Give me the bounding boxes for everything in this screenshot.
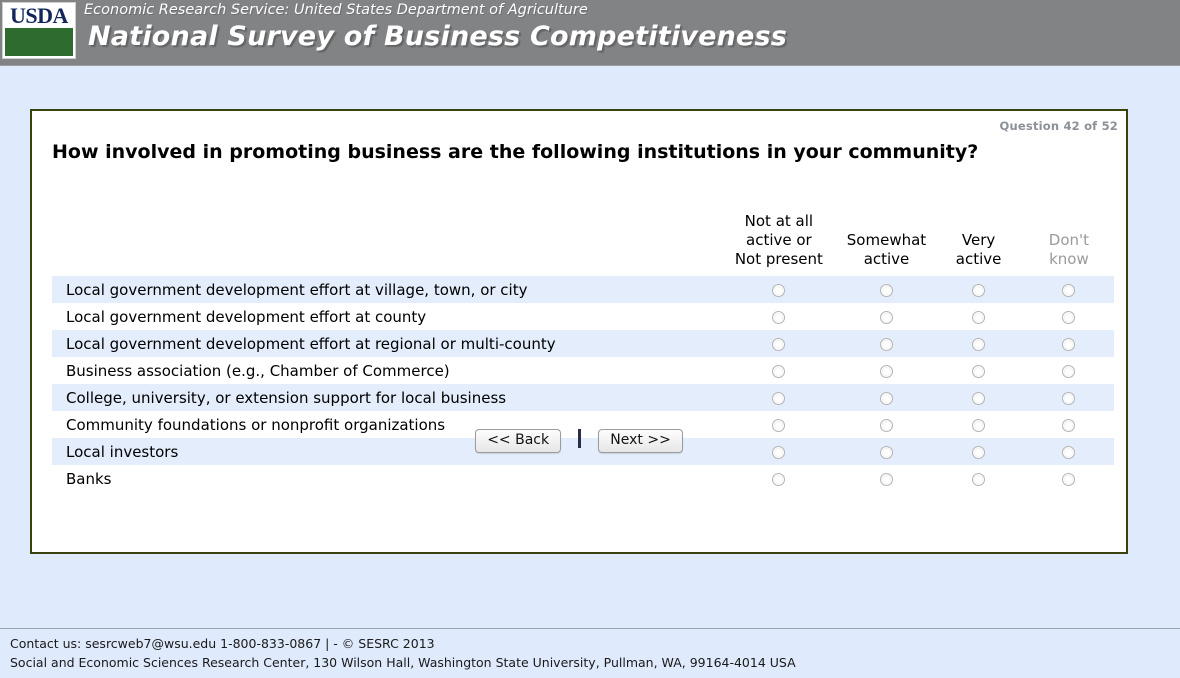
table-row: Local government development effort at c… — [52, 303, 1114, 330]
header-line-1: Don't — [1049, 231, 1089, 249]
nav-separator — [578, 429, 581, 448]
radio-cell-somewhat-active[interactable] — [840, 330, 934, 357]
table-row: Local government development effort at v… — [52, 276, 1114, 303]
radio-cell-dont-know[interactable] — [1024, 330, 1114, 357]
radio-cell-somewhat-active[interactable] — [840, 357, 934, 384]
page-body: Question 42 of 52 How involved in promot… — [0, 66, 1180, 628]
radio-cell-very-active[interactable] — [933, 384, 1024, 411]
radio-button[interactable] — [1062, 392, 1075, 405]
radio-cell-very-active[interactable] — [933, 357, 1024, 384]
matrix-header-not-at-all-active: Not at all active or Not present — [718, 212, 840, 276]
radio-cell-not-at-all-active[interactable] — [718, 357, 840, 384]
radio-button[interactable] — [880, 365, 893, 378]
radio-button[interactable] — [972, 473, 985, 486]
usda-logo-wordmark: USDA — [3, 4, 75, 28]
radio-button[interactable] — [1062, 338, 1075, 351]
radio-cell-not-at-all-active[interactable] — [718, 384, 840, 411]
radio-button[interactable] — [972, 392, 985, 405]
site-header: USDA Economic Research Service: United S… — [0, 0, 1180, 66]
radio-cell-very-active[interactable] — [933, 303, 1024, 330]
row-label: Local government development effort at r… — [52, 330, 718, 357]
page-title: National Survey of Business Competitiven… — [88, 21, 787, 52]
header-line-1: Very — [962, 231, 995, 249]
radio-button[interactable] — [1062, 365, 1075, 378]
radio-button[interactable] — [772, 392, 785, 405]
row-label: Banks — [52, 465, 718, 492]
radio-button[interactable] — [880, 338, 893, 351]
radio-button[interactable] — [880, 473, 893, 486]
radio-cell-dont-know[interactable] — [1024, 384, 1114, 411]
radio-button[interactable] — [772, 473, 785, 486]
agency-line: Economic Research Service: United States… — [84, 2, 588, 18]
usda-logo-swoosh-icon — [5, 28, 73, 56]
radio-cell-somewhat-active[interactable] — [840, 465, 934, 492]
radio-cell-very-active[interactable] — [933, 276, 1024, 303]
radio-cell-somewhat-active[interactable] — [840, 384, 934, 411]
radio-button[interactable] — [772, 338, 785, 351]
radio-cell-somewhat-active[interactable] — [840, 276, 934, 303]
row-label: Local government development effort at c… — [52, 303, 718, 330]
header-line-2: active — [864, 250, 910, 268]
matrix-body: Local government development effort at v… — [52, 276, 1114, 492]
row-label: Local government development effort at v… — [52, 276, 718, 303]
navigation-bar: << Back Next >> — [32, 429, 1126, 453]
radio-button[interactable] — [1062, 473, 1075, 486]
radio-button[interactable] — [772, 365, 785, 378]
back-button[interactable]: << Back — [475, 429, 561, 453]
matrix-header-somewhat-active: Somewhat active — [840, 212, 934, 276]
radio-cell-not-at-all-active[interactable] — [718, 303, 840, 330]
radio-cell-not-at-all-active[interactable] — [718, 465, 840, 492]
row-label: Business association (e.g., Chamber of C… — [52, 357, 718, 384]
usda-logo: USDA — [2, 2, 76, 59]
radio-button[interactable] — [880, 392, 893, 405]
matrix-header-very-active: Very active — [933, 212, 1024, 276]
footer-contact-line: Contact us: sesrcweb7@wsu.edu 1-800-833-… — [0, 629, 1180, 653]
radio-button[interactable] — [972, 338, 985, 351]
matrix-header-row: Not at all active or Not present Somewha… — [52, 212, 1114, 276]
next-button[interactable]: Next >> — [598, 429, 683, 453]
radio-button[interactable] — [1062, 284, 1075, 297]
radio-cell-not-at-all-active[interactable] — [718, 330, 840, 357]
question-progress: Question 42 of 52 — [1000, 119, 1118, 133]
radio-button[interactable] — [772, 311, 785, 324]
radio-cell-very-active[interactable] — [933, 465, 1024, 492]
survey-panel: Question 42 of 52 How involved in promot… — [30, 109, 1128, 554]
header-line-2: know — [1049, 250, 1089, 268]
site-footer: Contact us: sesrcweb7@wsu.edu 1-800-833-… — [0, 628, 1180, 678]
radio-button[interactable] — [972, 365, 985, 378]
radio-cell-dont-know[interactable] — [1024, 276, 1114, 303]
table-row: Local government development effort at r… — [52, 330, 1114, 357]
radio-button[interactable] — [972, 311, 985, 324]
header-line-1: Somewhat — [847, 231, 926, 249]
table-row: College, university, or extension suppor… — [52, 384, 1114, 411]
radio-cell-not-at-all-active[interactable] — [718, 276, 840, 303]
radio-button[interactable] — [972, 284, 985, 297]
matrix-header-dont-know: Don't know — [1024, 212, 1114, 276]
header-line-1: Not at all — [745, 212, 813, 230]
radio-button[interactable] — [880, 284, 893, 297]
header-line-2: active or — [746, 231, 812, 249]
footer-address-line: Social and Economic Sciences Research Ce… — [0, 653, 1180, 672]
header-line-3: Not present — [735, 250, 823, 268]
radio-cell-dont-know[interactable] — [1024, 465, 1114, 492]
radio-cell-somewhat-active[interactable] — [840, 303, 934, 330]
matrix-header-blank — [52, 212, 718, 276]
radio-button[interactable] — [772, 284, 785, 297]
radio-button[interactable] — [880, 311, 893, 324]
table-row: Banks — [52, 465, 1114, 492]
header-line-2: active — [956, 250, 1002, 268]
question-text: How involved in promoting business are t… — [52, 139, 1022, 166]
radio-button[interactable] — [1062, 311, 1075, 324]
radio-cell-dont-know[interactable] — [1024, 303, 1114, 330]
radio-cell-dont-know[interactable] — [1024, 357, 1114, 384]
table-row: Business association (e.g., Chamber of C… — [52, 357, 1114, 384]
radio-cell-very-active[interactable] — [933, 330, 1024, 357]
row-label: College, university, or extension suppor… — [52, 384, 718, 411]
